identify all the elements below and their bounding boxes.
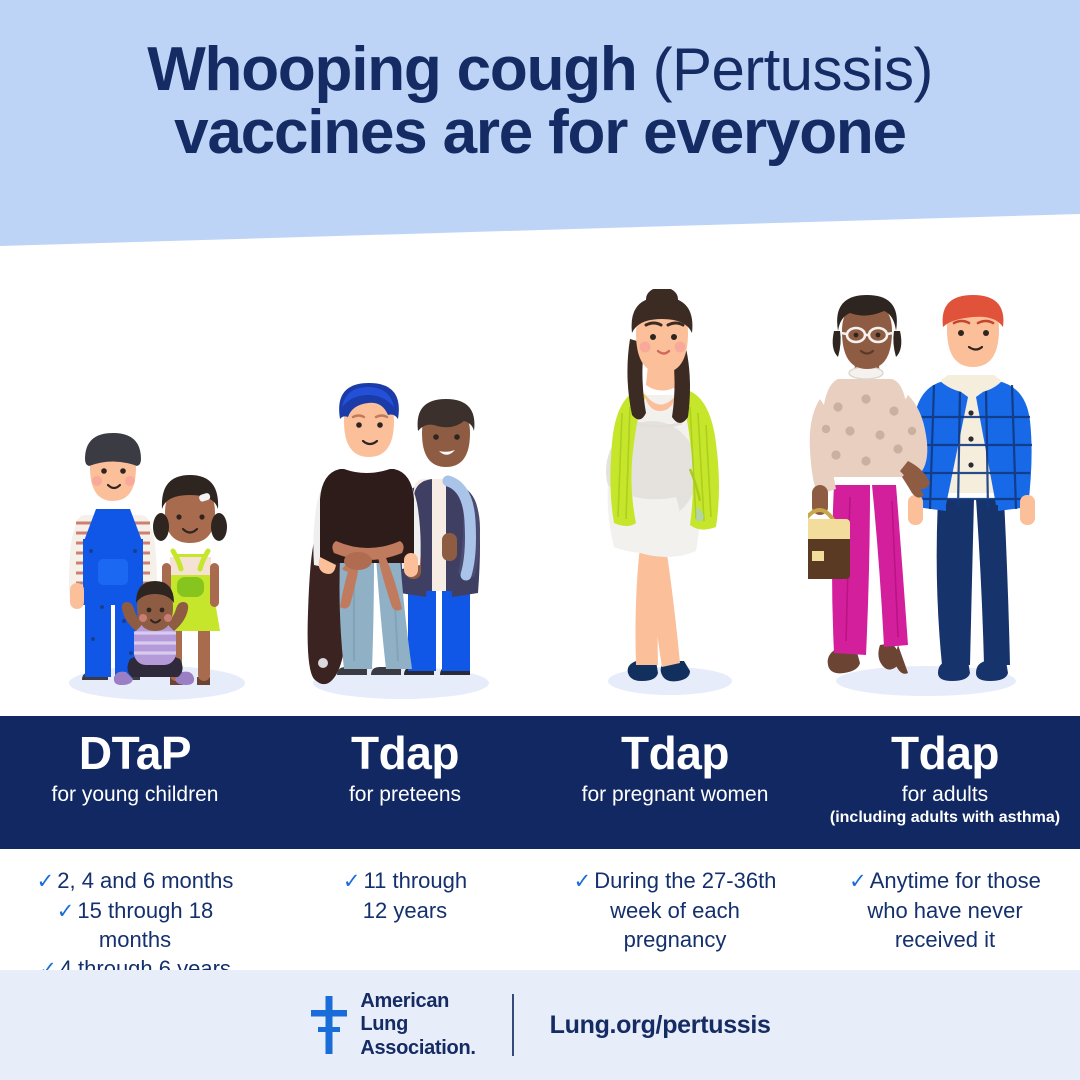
page-title: Whooping cough (Pertussis) vaccines are … [0, 38, 1080, 164]
schedule-column-dtap: ✓2, 4 and 6 months ✓15 through 18 months… [0, 849, 270, 970]
illustration-young-children [52, 391, 262, 706]
young-children-svg [52, 391, 262, 701]
vaccine-column-tdap-pregnant: Tdap for pregnant women [540, 716, 810, 849]
preteens-svg [296, 361, 506, 701]
schedule-text: 15 through 18 months [77, 898, 213, 953]
vaccine-column-tdap-preteens: Tdap for preteens [270, 716, 540, 849]
vaccine-audience: for preteens [349, 783, 461, 806]
title-line-1: Whooping cough (Pertussis) [0, 38, 1080, 101]
vaccine-column-tdap-adults: Tdap for adults (including adults with a… [810, 716, 1080, 849]
vaccine-column-dtap: DTaP for young children [0, 716, 270, 849]
schedule-text: Anytime for those who have never receive… [867, 868, 1041, 952]
vaccine-name: Tdap [621, 730, 729, 776]
check-icon: ✓ [574, 870, 592, 893]
check-icon: ✓ [57, 900, 75, 923]
schedule-item: ✓11 through 12 years [330, 866, 480, 925]
check-icon: ✓ [849, 870, 867, 893]
logo-line-1: American [360, 990, 475, 1013]
title-line-2: vaccines are for everyone [0, 101, 1080, 164]
title-bold: Whooping cough [147, 35, 636, 104]
footer: American Lung Association. Lung.org/pert… [0, 970, 1080, 1080]
schedule-column-pregnant: ✓During the 27-36th week of each pregnan… [540, 849, 810, 970]
schedule-item: ✓2, 4 and 6 months [37, 866, 234, 896]
vaccine-name: Tdap [891, 730, 999, 776]
illustration-area [0, 246, 1080, 716]
illustration-adults [808, 289, 1038, 706]
schedule-item: ✓During the 27-36th week of each pregnan… [563, 866, 787, 954]
pregnant-woman-svg [578, 289, 754, 701]
vaccine-audience: for adults [902, 783, 988, 806]
vaccine-name: DTaP [79, 730, 191, 776]
vaccine-audience: for pregnant women [582, 783, 769, 806]
schedule-text: During the 27-36th week of each pregnanc… [594, 868, 776, 952]
schedule-area: ✓2, 4 and 6 months ✓15 through 18 months… [0, 849, 1080, 970]
infographic-poster: Whooping cough (Pertussis) vaccines are … [0, 0, 1080, 1080]
ala-logo[interactable]: American Lung Association. [309, 990, 475, 1060]
briefcase [808, 510, 850, 579]
footer-divider [512, 994, 514, 1056]
schedule-column-adults: ✓Anytime for those who have never receiv… [810, 849, 1080, 970]
logo-line-3: Association. [360, 1037, 475, 1060]
adult-woman-figure [808, 295, 930, 674]
adult-man-figure [908, 295, 1035, 681]
vaccine-note: (including adults with asthma) [830, 809, 1060, 827]
schedule-text: 11 through 12 years [363, 868, 467, 923]
illustration-pregnant-woman [578, 289, 754, 706]
title-light: (Pertussis) [637, 36, 933, 103]
check-icon: ✓ [343, 870, 361, 893]
check-icon: ✓ [37, 870, 55, 893]
footer-url[interactable]: Lung.org/pertussis [550, 1011, 771, 1040]
schedule-text: 2, 4 and 6 months [57, 868, 233, 893]
vaccine-audience: for young children [52, 783, 219, 806]
vaccine-label-band: DTaP for young children Tdap for preteen… [0, 716, 1080, 849]
schedule-item: ✓Anytime for those who have never receiv… [843, 866, 1048, 954]
illustration-preteens [296, 361, 506, 706]
ala-cross-icon [309, 994, 349, 1056]
schedule-column-preteens: ✓11 through 12 years [270, 849, 540, 970]
adults-svg [808, 289, 1038, 701]
ala-logo-text: American Lung Association. [360, 990, 475, 1060]
logo-line-2: Lung [360, 1013, 475, 1036]
vaccine-name: Tdap [351, 730, 459, 776]
schedule-item: ✓15 through 18 months [19, 896, 251, 955]
